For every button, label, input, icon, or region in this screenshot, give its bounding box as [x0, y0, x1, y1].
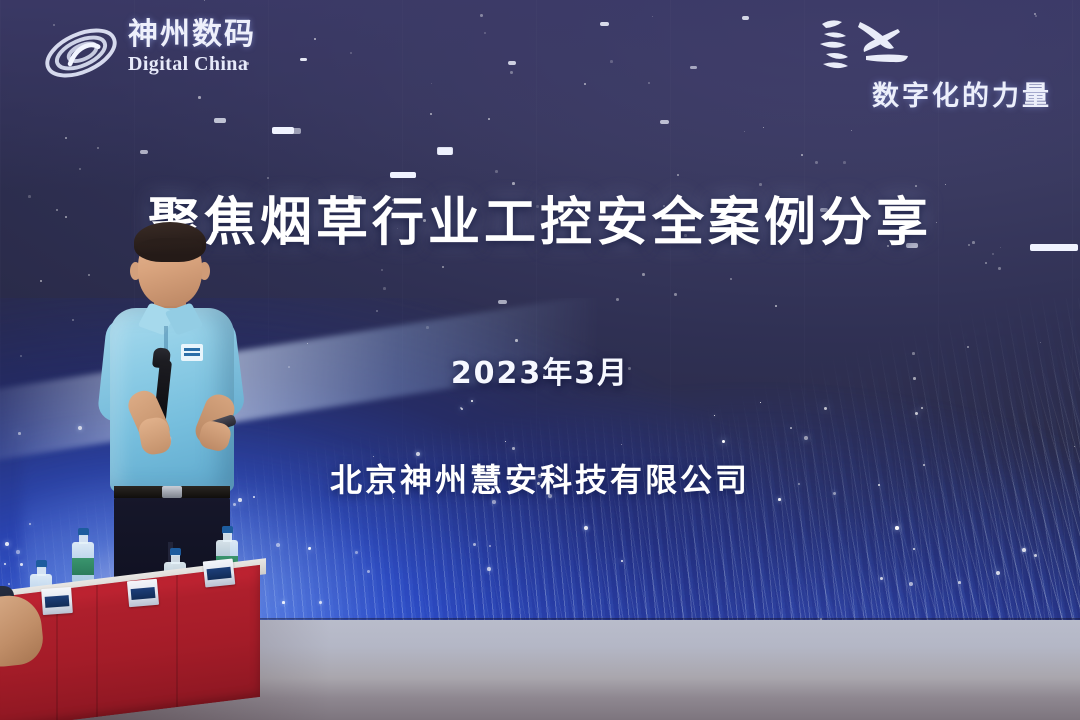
screen-marker-dash-1: [1030, 244, 1078, 251]
galaxy-swirl-icon: [42, 20, 120, 86]
tablecloth-fold-3: [176, 575, 178, 707]
name-card-strip: [45, 595, 70, 608]
company-badge-icon: [181, 344, 203, 361]
name-card-strip: [207, 567, 232, 580]
name-card-strip: [131, 587, 156, 600]
logo-name-cn: 神州数码: [128, 18, 294, 52]
screen-marker-dash-2: [272, 127, 294, 134]
tablecloth-fold-2: [96, 585, 98, 717]
calligraphy-juhe-icon: [814, 14, 934, 76]
conference-stage-photo: 神州数码 Digital China 数字化的力量 聚焦: [0, 0, 1080, 720]
juhe-tagline: 数字化的力量: [872, 74, 1052, 113]
speaker-belt-buckle: [162, 486, 182, 498]
screen-marker-dash-3: [390, 172, 416, 178]
bottle-label: [72, 558, 94, 575]
name-card-3: [203, 559, 236, 588]
name-card-2: [127, 579, 159, 608]
juhe-brand-logo: 数字化的力量: [802, 14, 1062, 110]
name-card-1: [41, 587, 73, 615]
speaker-hair: [134, 222, 206, 262]
screen-marker-dash-4: [437, 147, 453, 155]
water-bottle-2: [72, 528, 94, 584]
digital-china-logo: 神州数码 Digital China: [42, 16, 292, 94]
logo-name-en: Digital China: [128, 52, 294, 76]
